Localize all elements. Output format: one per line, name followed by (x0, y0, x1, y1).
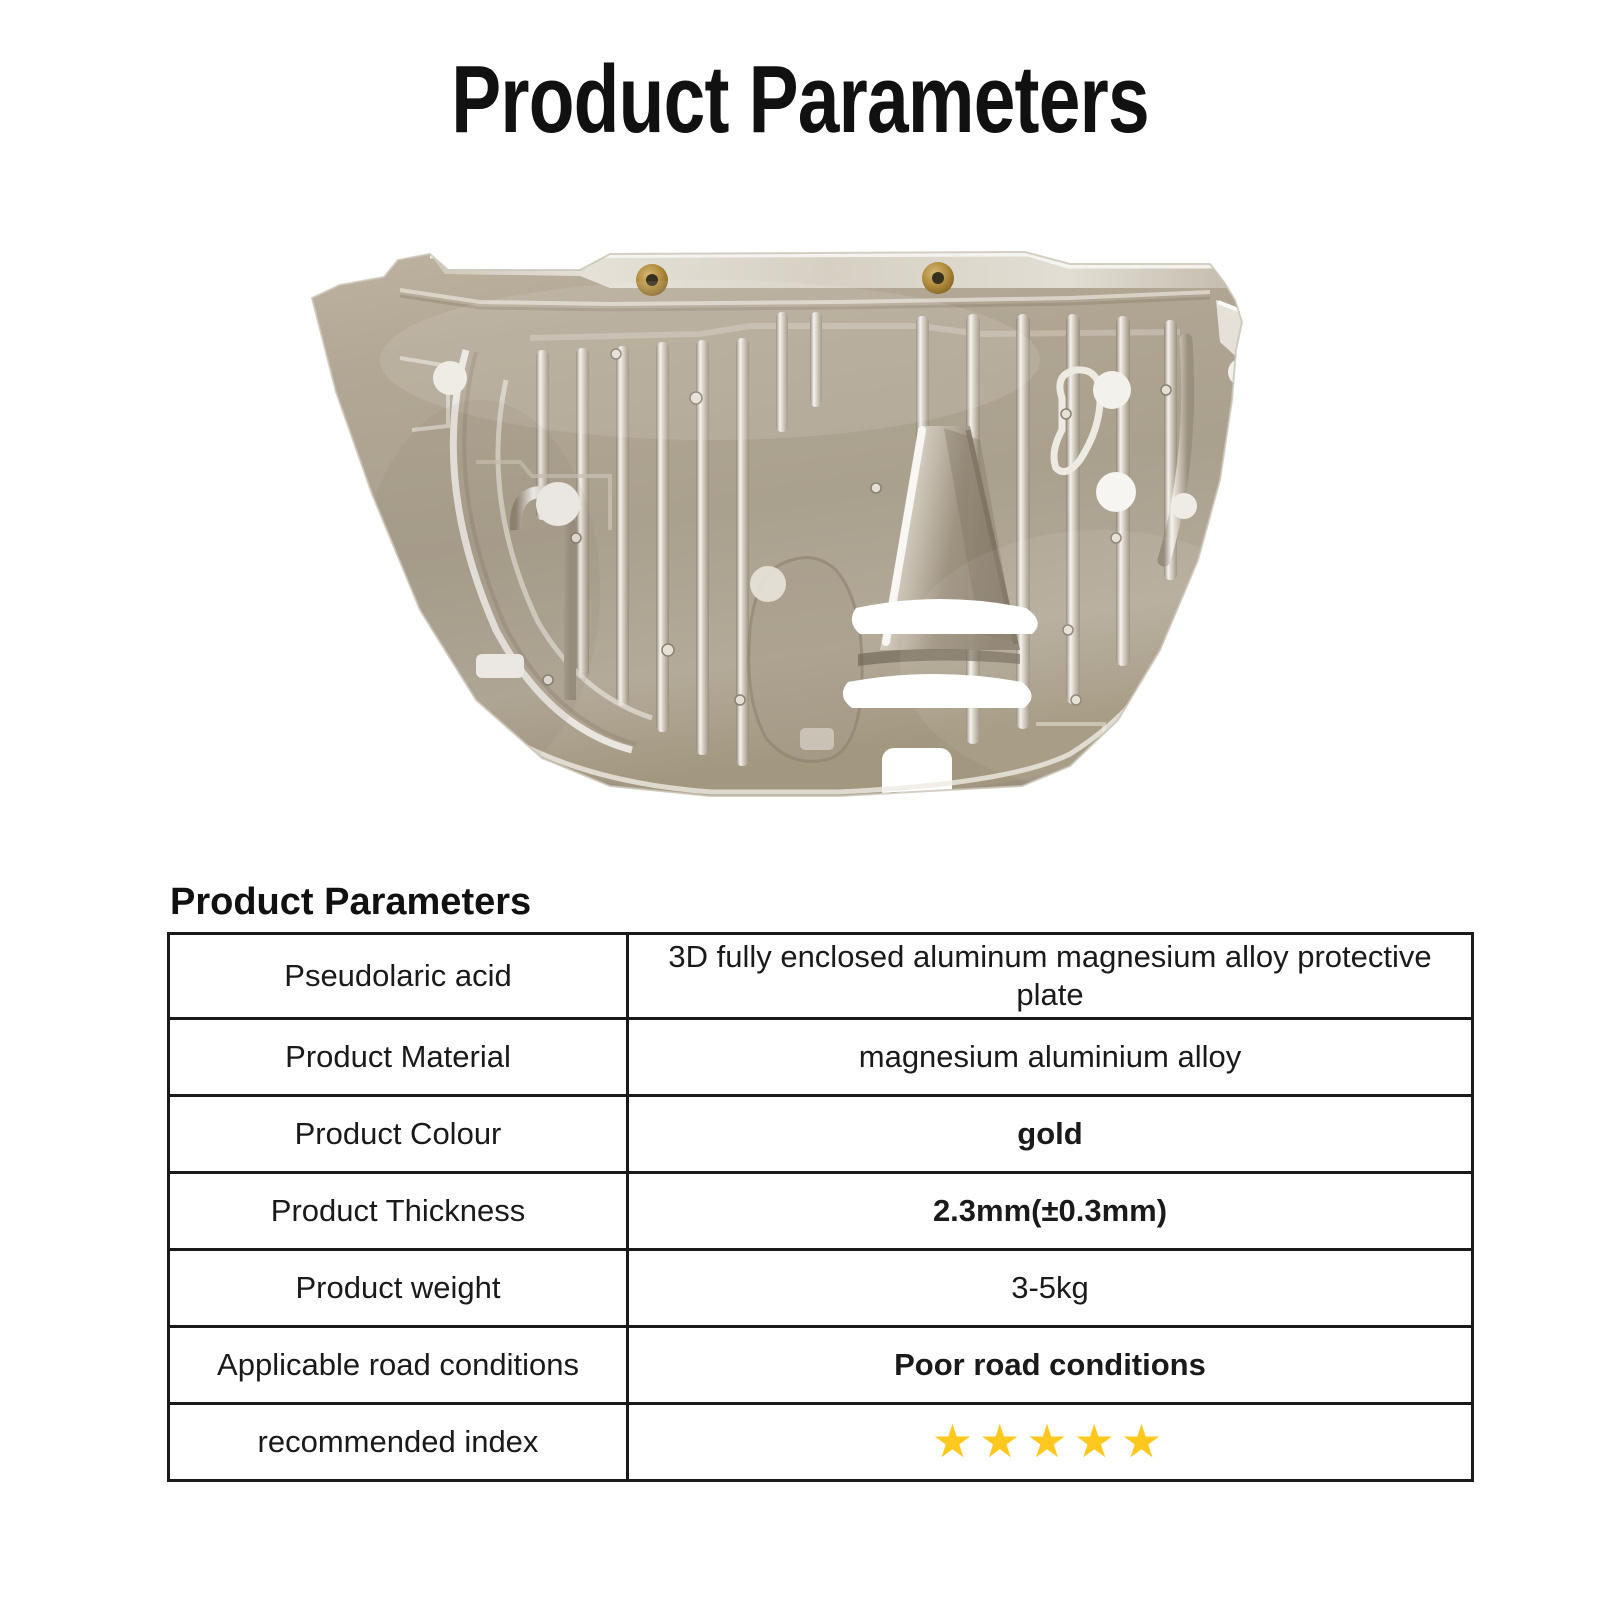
table-row: Product Material magnesium aluminium all… (169, 1019, 1473, 1096)
section-heading: Product Parameters (170, 880, 531, 924)
param-value: gold (628, 1096, 1473, 1173)
product-parameters-table: Pseudolaric acid 3D fully enclosed alumi… (167, 932, 1474, 1482)
param-label: Product weight (169, 1250, 628, 1327)
param-value: Poor road conditions (628, 1327, 1473, 1404)
param-label: Pseudolaric acid (169, 934, 628, 1019)
param-label: Product Colour (169, 1096, 628, 1173)
param-label: Applicable road conditions (169, 1327, 628, 1404)
param-value: 3D fully enclosed aluminum magnesium all… (628, 934, 1473, 1019)
table-row: Pseudolaric acid 3D fully enclosed alumi… (169, 934, 1473, 1019)
param-value: magnesium aluminium alloy (628, 1019, 1473, 1096)
table-row: Applicable road conditions Poor road con… (169, 1327, 1473, 1404)
table-row: Product Colour gold (169, 1096, 1473, 1173)
page-title: Product Parameters (176, 48, 1424, 152)
param-label: recommended index (169, 1404, 628, 1481)
param-label: Product Thickness (169, 1173, 628, 1250)
table-row: Product Thickness 2.3mm(±0.3mm) (169, 1173, 1473, 1250)
param-label: Product Material (169, 1019, 628, 1096)
product-image (280, 230, 1290, 830)
brass-grommet-right (922, 262, 954, 294)
param-value: 2.3mm(±0.3mm) (628, 1173, 1473, 1250)
param-value: 3-5kg (628, 1250, 1473, 1327)
skid-plate-illustration (280, 230, 1290, 830)
param-value: ★★★★★ (628, 1404, 1473, 1481)
table-row: recommended index ★★★★★ (169, 1404, 1473, 1481)
table-row: Product weight 3-5kg (169, 1250, 1473, 1327)
rating-stars: ★★★★★ (932, 1418, 1168, 1464)
